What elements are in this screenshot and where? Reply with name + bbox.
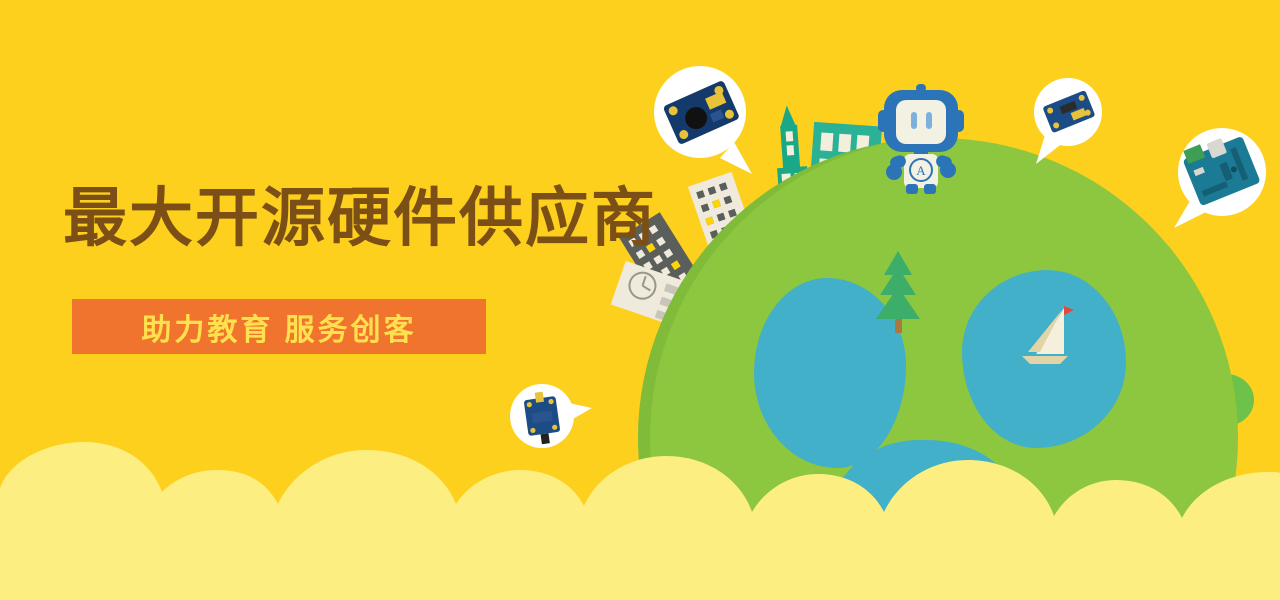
bubble-sensor-module-top-left[interactable] <box>648 58 768 178</box>
robot-chest-logo: A <box>916 163 926 178</box>
subtitle-text: 助力教育 服务创客 <box>141 305 416 349</box>
hero-banner: A <box>0 0 1280 600</box>
bubble-pcb-top-right[interactable] <box>1020 70 1110 170</box>
blue-robot-mascot: A <box>878 84 964 194</box>
pine-tree-on-globe <box>872 245 924 335</box>
bubble-arduino-board-right[interactable] <box>1160 120 1280 240</box>
sailboat <box>1012 300 1092 370</box>
page-title: 最大开源硬件供应商 <box>63 186 657 250</box>
yellow-cloud-band <box>0 420 1280 600</box>
subtitle-badge: 助力教育 服务创客 <box>72 299 486 354</box>
